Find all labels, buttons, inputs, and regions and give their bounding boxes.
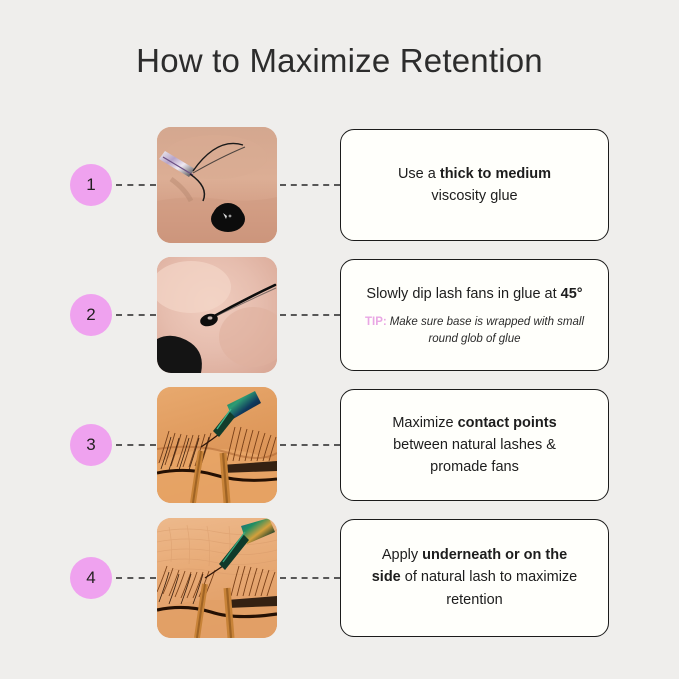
infographic-page: How to Maximize Retention 1 xyxy=(0,0,679,679)
step-row-3: 3 xyxy=(0,385,679,505)
step-photo-4 xyxy=(157,518,277,638)
connector-right-1 xyxy=(280,184,340,186)
step-card-4: Apply underneath or on theside of natura… xyxy=(340,519,609,637)
step-row-4: 4 xyxy=(0,515,679,640)
step-card-3: Maximize contact pointsbetween natural l… xyxy=(340,389,609,501)
connector-left-2 xyxy=(116,314,156,316)
connector-right-4 xyxy=(280,577,340,579)
photo-lash-fan-dipped-illustration xyxy=(157,257,277,373)
step-number-4: 4 xyxy=(70,557,112,599)
connector-left-3 xyxy=(116,444,156,446)
step-text-1: Use a thick to mediumviscosity glue xyxy=(398,163,551,207)
step-photo-2 xyxy=(157,257,277,373)
step-text-2: Slowly dip lash fans in glue at 45° xyxy=(366,283,582,305)
step-number-1: 1 xyxy=(70,164,112,206)
step-text-3: Maximize contact pointsbetween natural l… xyxy=(392,412,556,479)
step-photo-3 xyxy=(157,387,277,503)
page-title: How to Maximize Retention xyxy=(0,42,679,80)
connector-left-4 xyxy=(116,577,156,579)
connector-left-1 xyxy=(116,184,156,186)
step-number-badge-4: 4 xyxy=(70,557,112,599)
tip-label: TIP: xyxy=(365,316,387,328)
step-card-2: Slowly dip lash fans in glue at 45° TIP:… xyxy=(340,259,609,371)
photo-contact-points-illustration xyxy=(157,387,277,503)
step-number-3: 3 xyxy=(70,424,112,466)
photo-glue-drop-illustration xyxy=(157,127,277,243)
step-number-badge-2: 2 xyxy=(70,294,112,336)
step-row-2: 2 xyxy=(0,255,679,375)
step-number-2: 2 xyxy=(70,294,112,336)
step-row-1: 1 xyxy=(0,125,679,245)
step-number-badge-3: 3 xyxy=(70,424,112,466)
step-photo-1 xyxy=(157,127,277,243)
connector-right-2 xyxy=(280,314,340,316)
step-card-1: Use a thick to mediumviscosity glue xyxy=(340,129,609,241)
step-number-badge-1: 1 xyxy=(70,164,112,206)
connector-right-3 xyxy=(280,444,340,446)
step-tip-2: TIP:Make sure base is wrapped with small… xyxy=(357,314,592,347)
photo-underneath-application-illustration xyxy=(157,518,277,638)
step-text-4: Apply underneath or on theside of natura… xyxy=(372,544,578,611)
tip-text: Make sure base is wrapped with small rou… xyxy=(390,316,584,345)
